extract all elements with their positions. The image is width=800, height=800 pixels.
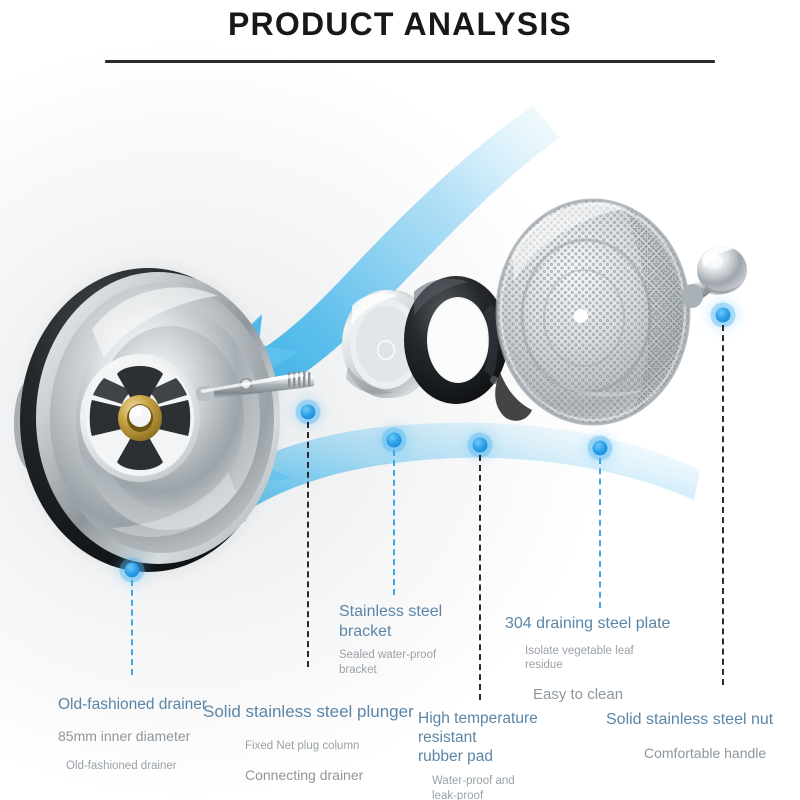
label-subtext-3: Easy to clean [533,685,690,705]
callout-line-solid-stainless-steel-plunger [307,422,309,667]
label-heading-line1: High temperature resistant [418,710,538,746]
callout-line-stainless-steel-bracket [393,450,395,595]
label-heading: Solid stainless steel plunger [203,702,413,723]
label-subtext-line2: leak-proof [432,790,483,800]
callout-dot-solid-stainless-steel-plunger[interactable] [301,405,316,420]
label-subtext-1: Fixed Net plug column [245,739,413,754]
label-subtext-2: Connecting drainer [245,766,413,784]
label-heading-line1: Stainless steel [339,603,442,620]
callout-dot-old-fashioned-drainer[interactable] [125,563,140,578]
callout-line-old-fashioned-drainer [131,580,133,675]
callout-dot-stainless-steel-bracket[interactable] [387,433,402,448]
callout-label-solid-stainless-steel-plunger: Solid stainless steel plunger Fixed Net … [203,702,413,784]
label-heading-line2: bracket [339,623,391,640]
callout-line-high-temperature-resistant-rubber-pad [479,455,481,700]
callout-dot-304-draining-steel-plate[interactable] [593,441,608,456]
product-analysis-infographic: PRODUCT ANALYSIS [0,0,800,800]
callout-label-high-temperature-resistant-rubber-pad: High temperature resistant rubber pad Wa… [418,710,583,800]
part-old-fashioned-drainer [14,262,282,578]
part-304-draining-steel-plate [490,196,700,432]
label-subtext-line1: Isolate vegetable leaf [525,645,634,657]
label-subtext-line2: bracket [339,664,377,676]
callout-dot-solid-stainless-steel-nut[interactable] [716,308,731,323]
label-heading: 304 draining steel plate [505,614,690,634]
label-subtext-line1: Water-proof and [432,775,515,787]
label-heading-line2: rubber pad [418,748,493,765]
part-high-temperature-resistant-rubber-pad [404,276,508,404]
callout-label-304-draining-steel-plate: 304 draining steel plate Isolate vegetab… [505,614,690,705]
callout-dot-high-temperature-resistant-rubber-pad[interactable] [473,438,488,453]
part-solid-stainless-steel-nut [681,245,747,308]
callout-line-304-draining-steel-plate [599,458,601,608]
callout-label-stainless-steel-bracket: Stainless steel bracket Sealed water-pro… [339,602,459,678]
label-subtext-1: Comfortable handle [644,744,800,762]
callout-label-solid-stainless-steel-nut: Solid stainless steel nut Comfortable ha… [606,710,800,762]
label-heading: Solid stainless steel nut [606,710,800,730]
label-subtext-line1: Sealed water-proof [339,649,436,661]
callout-line-solid-stainless-steel-nut [722,325,724,685]
label-subtext-line2: residue [525,659,563,671]
